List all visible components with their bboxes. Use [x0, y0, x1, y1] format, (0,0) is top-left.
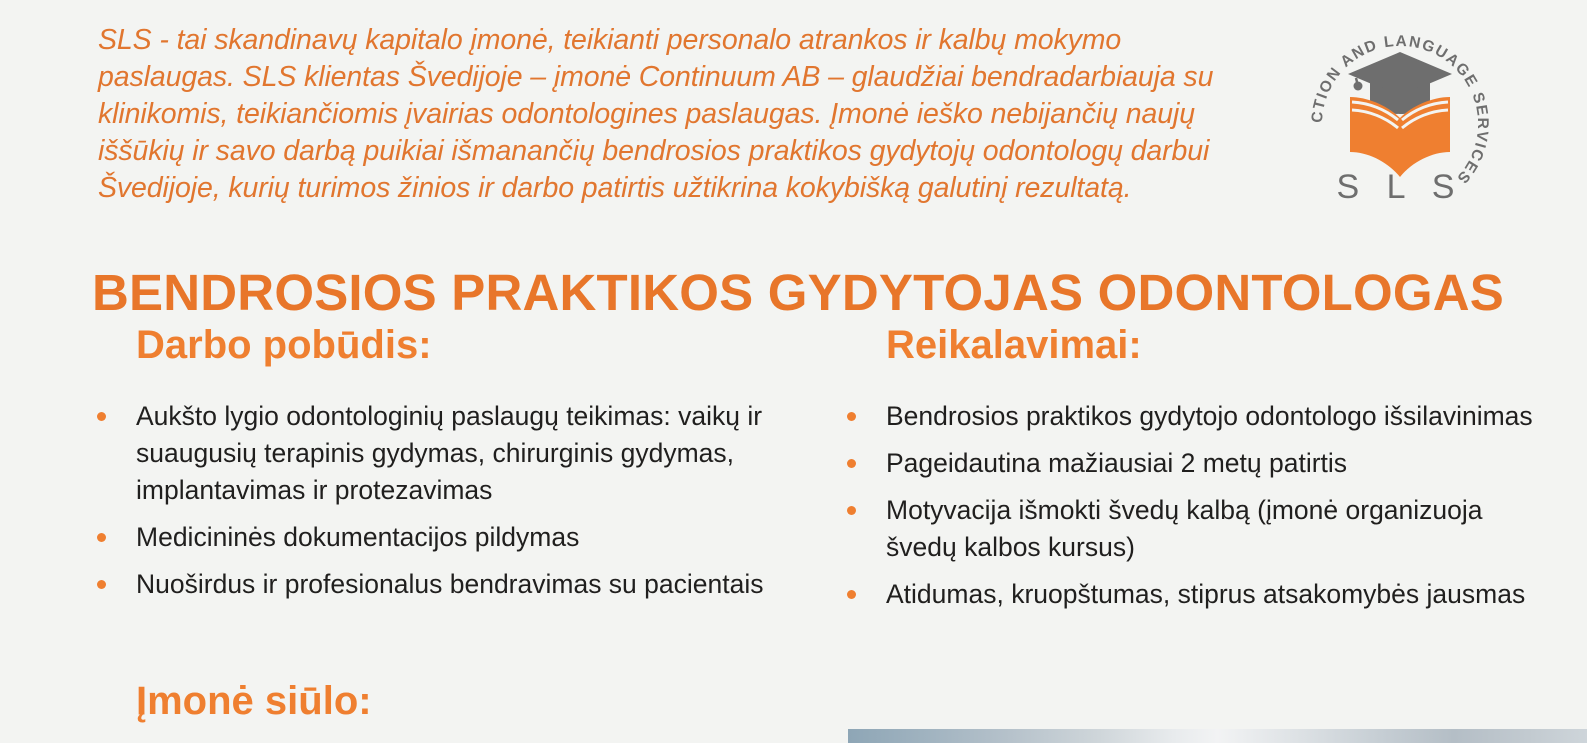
right-column-bullet-list: Bendrosios praktikos gydytojo odontologo…	[838, 398, 1538, 613]
bullet-dot-icon	[97, 580, 106, 589]
list-item-text: Motyvacija išmokti švedų kalbą (įmonė or…	[886, 495, 1483, 562]
right-column: Reikalavimai: Bendrosios praktikos gydyt…	[838, 320, 1538, 623]
page-title: BENDROSIOS PRAKTIKOS GYDYTOJAS ODONTOLOG…	[92, 262, 1512, 324]
list-item: Aukšto lygio odontologinių paslaugų teik…	[88, 398, 788, 509]
left-column-bullet-list: Aukšto lygio odontologinių paslaugų teik…	[88, 398, 788, 603]
list-item: Atidumas, kruopštumas, stiprus atsakomyb…	[838, 576, 1538, 613]
right-column-heading: Reikalavimai:	[886, 320, 1538, 370]
poster-page: SLS - tai skandinavų kapitalo įmonė, tei…	[0, 0, 1587, 743]
left-column: Darbo pobūdis: Aukšto lygio odontologini…	[88, 320, 788, 613]
bullet-dot-icon	[847, 506, 856, 515]
list-item: Nuoširdus ir profesionalus bendravimas s…	[88, 566, 788, 603]
bullet-dot-icon	[97, 533, 106, 542]
bottom-image-strip	[848, 729, 1587, 743]
list-item-text: Aukšto lygio odontologinių paslaugų teik…	[136, 401, 762, 505]
list-item-text: Atidumas, kruopštumas, stiprus atsakomyb…	[886, 579, 1525, 609]
bullet-dot-icon	[847, 590, 856, 599]
bullet-dot-icon	[847, 412, 856, 421]
list-item: Bendrosios praktikos gydytojo odontologo…	[838, 398, 1538, 435]
left-column-heading: Darbo pobūdis:	[136, 320, 788, 370]
bullet-dot-icon	[847, 459, 856, 468]
intro-paragraph: SLS - tai skandinavų kapitalo įmonė, tei…	[98, 22, 1258, 207]
left-column-heading-lower: Įmonė siūlo:	[136, 675, 372, 727]
list-item-text: Medicininės dokumentacijos pildymas	[136, 522, 579, 552]
bullet-dot-icon	[97, 412, 106, 421]
list-item-text: Nuoširdus ir profesionalus bendravimas s…	[136, 569, 764, 599]
list-item: Motyvacija išmokti švedų kalbą (įmonė or…	[838, 492, 1538, 566]
logo-wordmark: S L S	[1337, 168, 1464, 206]
list-item: Medicininės dokumentacijos pildymas	[88, 519, 788, 556]
list-item-text: Pageidautina mažiausiai 2 metų patirtis	[886, 448, 1347, 478]
list-item-text: Bendrosios praktikos gydytojo odontologo…	[886, 401, 1533, 431]
list-item: Pageidautina mažiausiai 2 metų patirtis	[838, 445, 1538, 482]
sls-logo: SELECTION AND LANGUAGE SERVICES S L S	[1300, 12, 1500, 207]
